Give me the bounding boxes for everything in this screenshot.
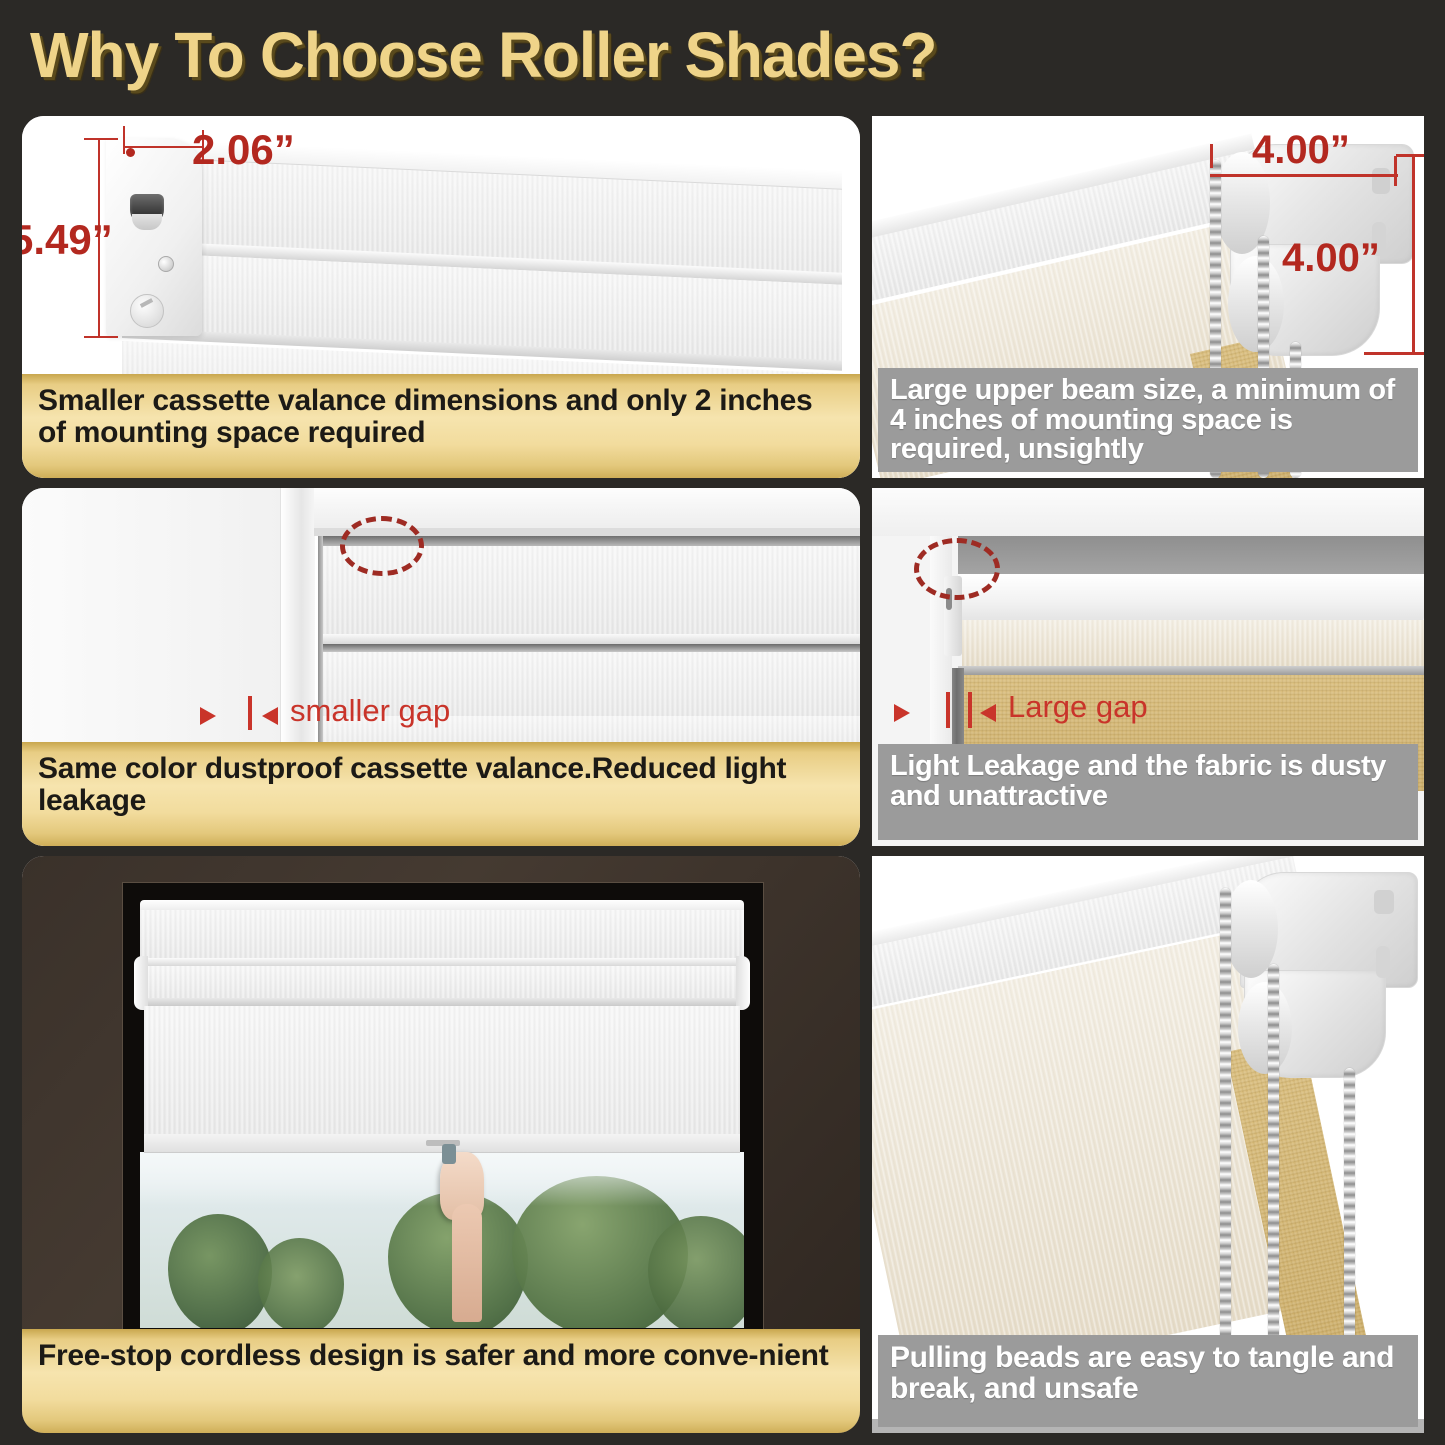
width-dimension-tick-left (123, 126, 125, 154)
valance (140, 910, 744, 960)
bead-chain (1220, 888, 1231, 1388)
gap-arrow-left (894, 704, 910, 722)
width-dimension-label: 2.06” (192, 126, 295, 174)
gap-marker-bar (946, 692, 950, 728)
gap-marker-bar (968, 692, 972, 728)
gap-arrow-right (980, 704, 996, 722)
width-dimension-line (123, 146, 203, 148)
shade-fabric (144, 1006, 740, 1138)
beam-width-line (1210, 174, 1398, 177)
beam-width-label: 4.00” (1252, 128, 1350, 173)
gap-arrow-left (200, 707, 216, 725)
beam-height-label: 4.00” (1282, 236, 1380, 281)
beam-width-tick-right (1394, 156, 1397, 186)
caption-cordless-design: Free-stop cordless design is safer and m… (22, 1329, 860, 1433)
gap-highlight-ellipse (914, 538, 1000, 600)
page-title: Why To Choose Roller Shades? (30, 16, 1000, 94)
panel-pulling-beads: Pulling beads are easy to tangle and bre… (872, 856, 1424, 1433)
infographic-page: Why To Choose Roller Shades? (0, 0, 1445, 1445)
panel-large-upper-beam: 4.00” 4.00” Large upper beam size, a min… (872, 116, 1424, 478)
caption-large-upper-beam: Large upper beam size, a minimum of 4 in… (878, 368, 1418, 472)
beam-height-tick-top (1396, 154, 1424, 157)
panel-large-gap: Large gap Light Leakage and the fabric i… (872, 488, 1424, 846)
height-dimension-tick-top (84, 138, 118, 140)
height-dimension-label: 5.49” (22, 216, 113, 264)
large-gap-label: Large gap (1008, 689, 1148, 725)
bead-chain (1268, 964, 1279, 1388)
height-dimension-tick-bottom (84, 336, 118, 338)
beam-width-tick-left (1210, 144, 1213, 168)
comparison-grid: 2.06” 5.49” Smaller cassette valance dim… (0, 104, 1445, 1445)
caption-cassette-dimensions: Smaller cassette valance dimensions and … (22, 374, 860, 478)
beam-height-line (1412, 154, 1415, 354)
caption-smaller-gap: Same color dustproof cassette valance.Re… (22, 742, 860, 846)
smaller-gap-label: smaller gap (290, 693, 450, 729)
gap-arrow-right (262, 707, 278, 725)
gap-marker-bar (248, 696, 252, 730)
caption-pulling-beads: Pulling beads are easy to tangle and bre… (878, 1335, 1418, 1427)
gap-highlight-ellipse (340, 516, 424, 576)
beam-height-tick-bottom (1364, 352, 1424, 355)
panel-smaller-gap: smaller gap Same color dustproof cassett… (22, 488, 860, 846)
caption-large-gap: Light Leakage and the fabric is dusty an… (878, 744, 1418, 840)
panel-cassette-dimensions: 2.06” 5.49” Smaller cassette valance dim… (22, 116, 860, 478)
panel-cordless-design: Free-stop cordless design is safer and m… (22, 856, 860, 1433)
